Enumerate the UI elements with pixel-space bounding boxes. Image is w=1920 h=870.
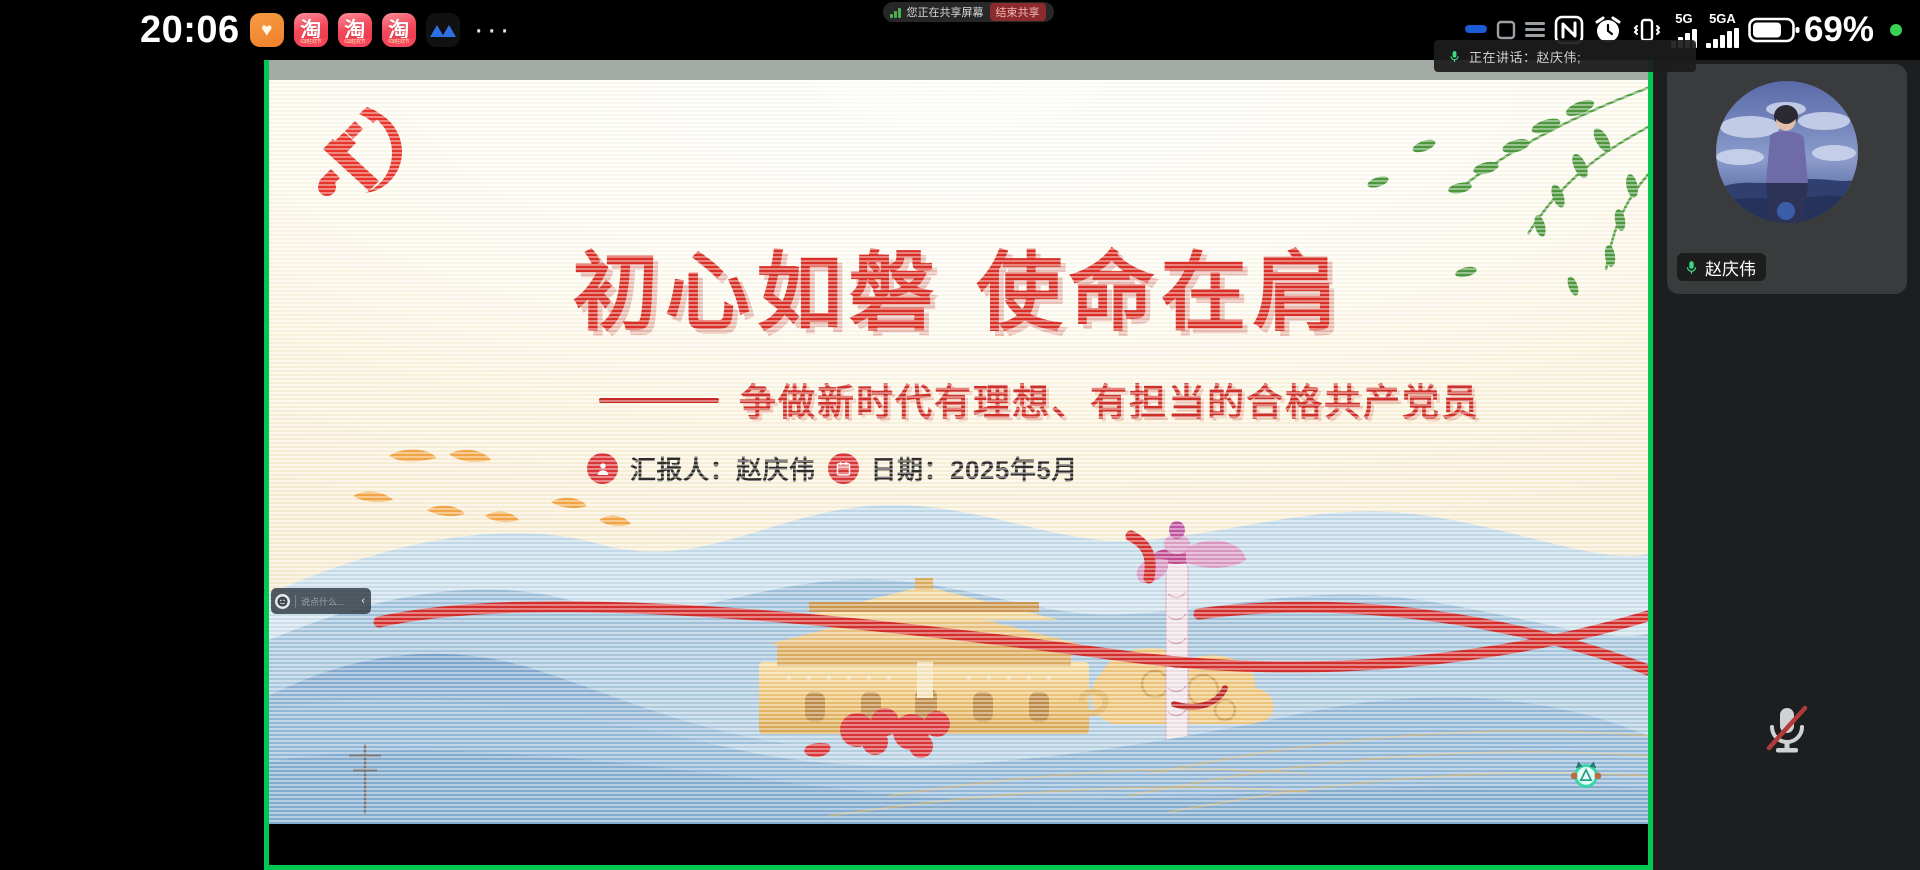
cat-mascot-watermark-icon — [1569, 758, 1603, 792]
subtitle-rule — [599, 398, 719, 403]
calendar-icon — [828, 453, 859, 484]
minus-indicator-icon — [1465, 25, 1487, 35]
avatar — [1716, 81, 1858, 223]
health-app-icon[interactable]: ♥ — [250, 13, 284, 47]
screen-root: 初心如磐 使命在肩 争做新时代有理想、有担当的合格共产党员 汇报人：赵庆伟 日期… — [0, 0, 1920, 870]
presentation-slide[interactable]: 初心如磐 使命在肩 争做新时代有理想、有担当的合格共产党员 汇报人：赵庆伟 日期… — [269, 80, 1648, 824]
slide-title: 初心如磐 使命在肩 — [269, 222, 1648, 347]
left-gutter — [0, 0, 264, 870]
emoji-icon[interactable] — [275, 594, 290, 609]
presenter-icon — [587, 453, 618, 484]
end-share-button[interactable]: 结束共享 — [990, 3, 1046, 21]
taobao-app-icon-2[interactable]: 淘 618狂欢节 — [338, 13, 372, 47]
network-label-5ga: 5GA — [1709, 12, 1736, 25]
share-signal-icon — [890, 7, 901, 18]
battery-indicator: 69% — [1748, 10, 1874, 50]
participant-tile[interactable]: 赵庆伟 — [1667, 64, 1907, 294]
speaking-text: 正在讲话：赵庆伟; — [1469, 47, 1581, 66]
shared-screen-stage[interactable]: 初心如磐 使命在肩 争做新时代有理想、有担当的合格共产党员 汇报人：赵庆伟 日期… — [264, 24, 1653, 870]
taobao-app-icon-3[interactable]: 淘 618狂欢节 — [382, 13, 416, 47]
speaking-toast: 正在讲话：赵庆伟; — [1434, 40, 1696, 72]
battery-percent: 69% — [1804, 10, 1874, 50]
network-indicator-5ga: 5GA — [1706, 12, 1739, 48]
date-label: 日期：2025年5月 — [871, 450, 1078, 487]
taobao-badge-3: 618狂欢节 — [382, 38, 416, 47]
blue-app-icon[interactable] — [426, 13, 460, 47]
slide-meta: 汇报人：赵庆伟 日期：2025年5月 — [587, 450, 1078, 487]
microphone-icon — [1684, 258, 1699, 277]
party-emblem-icon — [305, 101, 415, 206]
participant-rail: 赵庆伟 — [1653, 0, 1920, 870]
status-clock: 20:06 — [140, 9, 240, 52]
recording-indicator-dot — [1890, 24, 1902, 36]
square-indicator-icon — [1496, 20, 1516, 40]
network-label-5g: 5G — [1675, 12, 1692, 25]
presenter-label: 汇报人：赵庆伟 — [630, 450, 816, 487]
share-status-text: 您正在共享屏幕 — [907, 4, 984, 20]
battery-icon — [1748, 16, 1800, 44]
taobao-app-icon-1[interactable]: 淘 618狂欢节 — [294, 13, 328, 47]
participant-name: 赵庆伟 — [1705, 255, 1756, 280]
self-mute-microphone-icon[interactable] — [1759, 700, 1815, 756]
participant-name-chip: 赵庆伟 — [1677, 253, 1766, 281]
menu-lines-icon — [1525, 21, 1545, 39]
slide-scenery-illustration — [269, 444, 1648, 824]
taobao-badge-1: 618狂欢节 — [294, 38, 328, 47]
microphone-icon — [1448, 48, 1461, 65]
slide-subtitle: 争做新时代有理想、有担当的合格共产党员 — [739, 372, 1480, 426]
signal-bars-5ga — [1706, 26, 1739, 48]
chat-collapse-icon[interactable]: ‹ — [361, 595, 367, 607]
screen-share-pill[interactable]: 您正在共享屏幕 结束共享 — [883, 2, 1054, 22]
shared-screen-bottom-bar — [269, 824, 1648, 870]
taobao-badge-2: 618狂欢节 — [338, 38, 372, 47]
status-overflow-icon[interactable]: ··· — [474, 20, 513, 40]
chat-input-bar[interactable]: 说点什么... ‹ — [271, 588, 371, 614]
status-bar-left: 20:06 ♥ 淘 618狂欢节 淘 618狂欢节 淘 618狂欢节 ··· — [140, 0, 513, 60]
mountain-icon — [428, 19, 458, 41]
chat-input-placeholder[interactable]: 说点什么... — [295, 595, 356, 608]
heart-icon: ♥ — [261, 21, 272, 40]
